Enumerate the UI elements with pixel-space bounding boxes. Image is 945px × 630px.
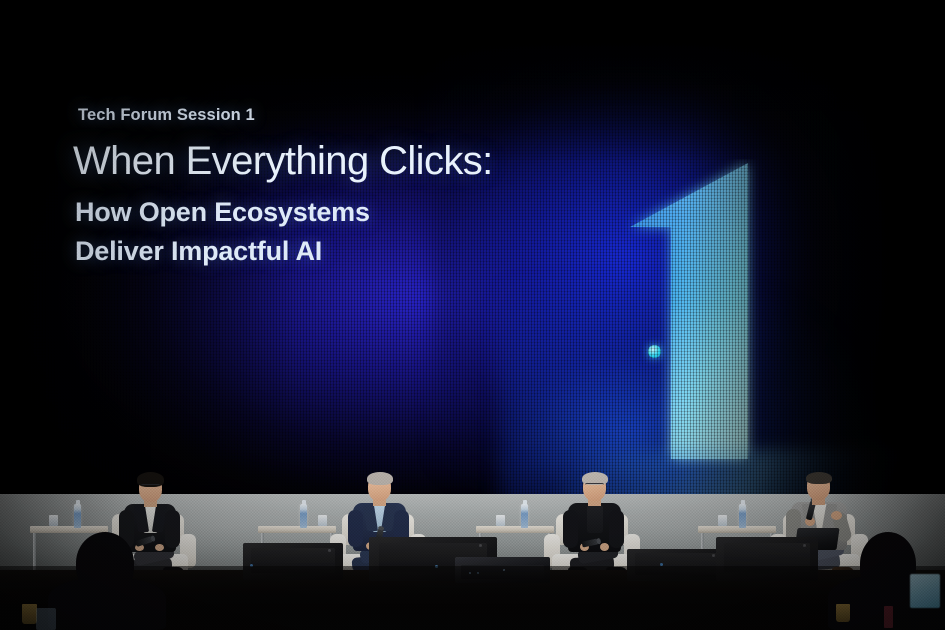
- table-top: [698, 526, 776, 533]
- arm: [609, 510, 624, 548]
- drinking-glass: [718, 515, 727, 526]
- monitor-indicator: [328, 549, 331, 552]
- rack-led: [250, 564, 253, 567]
- monitor-indicator: [479, 544, 482, 547]
- hand: [600, 543, 609, 551]
- water-bottle-foreground: [36, 608, 56, 630]
- monitor-grille: [724, 543, 810, 572]
- table-top: [476, 526, 554, 533]
- eyeglasses-icon: [585, 483, 604, 487]
- hair: [367, 472, 393, 485]
- panelist-1: [108, 468, 194, 578]
- monitor-indicator: [803, 544, 806, 547]
- arm: [563, 510, 578, 548]
- water-bottle: [521, 504, 528, 528]
- arm: [348, 510, 363, 547]
- arm: [119, 510, 134, 548]
- coffee-cup: [836, 604, 850, 622]
- hair: [806, 472, 832, 484]
- table-top: [258, 526, 336, 533]
- eyeglasses-icon: [141, 484, 160, 488]
- panelist-3: [552, 466, 638, 578]
- arm: [165, 510, 180, 548]
- equipment-rack: [455, 557, 550, 583]
- slide-headline: When Everything Clicks:: [73, 141, 546, 181]
- water-bottle: [739, 504, 746, 528]
- rack-front-panel: [461, 565, 545, 579]
- hand-gesturing: [831, 511, 842, 520]
- floor-monitor-4: [716, 537, 818, 581]
- table-top: [30, 526, 108, 533]
- water-bottle: [74, 504, 81, 528]
- stage-panel-photo: Tech Forum Session 1 When Everything Cli…: [0, 0, 945, 630]
- slide-subline-2: Deliver Impactful AI: [75, 232, 546, 271]
- rack-led: [435, 565, 438, 568]
- floor-monitor-1: [243, 543, 343, 580]
- drinking-glass: [318, 515, 327, 526]
- monitor-grille: [635, 553, 719, 574]
- slide-subline-1: How Open Ecosystems: [75, 193, 546, 232]
- slide-text-block: Tech Forum Session 1 When Everything Cli…: [76, 106, 546, 271]
- black-shirt: [587, 505, 603, 533]
- rack-led: [660, 563, 663, 566]
- coffee-cup: [22, 604, 37, 624]
- drinking-glass: [49, 515, 58, 526]
- drinking-glass: [496, 515, 505, 526]
- hand: [155, 544, 164, 551]
- doorknob-icon: [648, 345, 661, 358]
- session-eyebrow: Tech Forum Session 1: [78, 106, 546, 124]
- monitor-grille: [251, 548, 335, 572]
- seat-group-1: [22, 464, 232, 584]
- water-bottle: [300, 504, 307, 528]
- lanyard: [884, 606, 893, 628]
- floor-monitor-3: [627, 549, 727, 581]
